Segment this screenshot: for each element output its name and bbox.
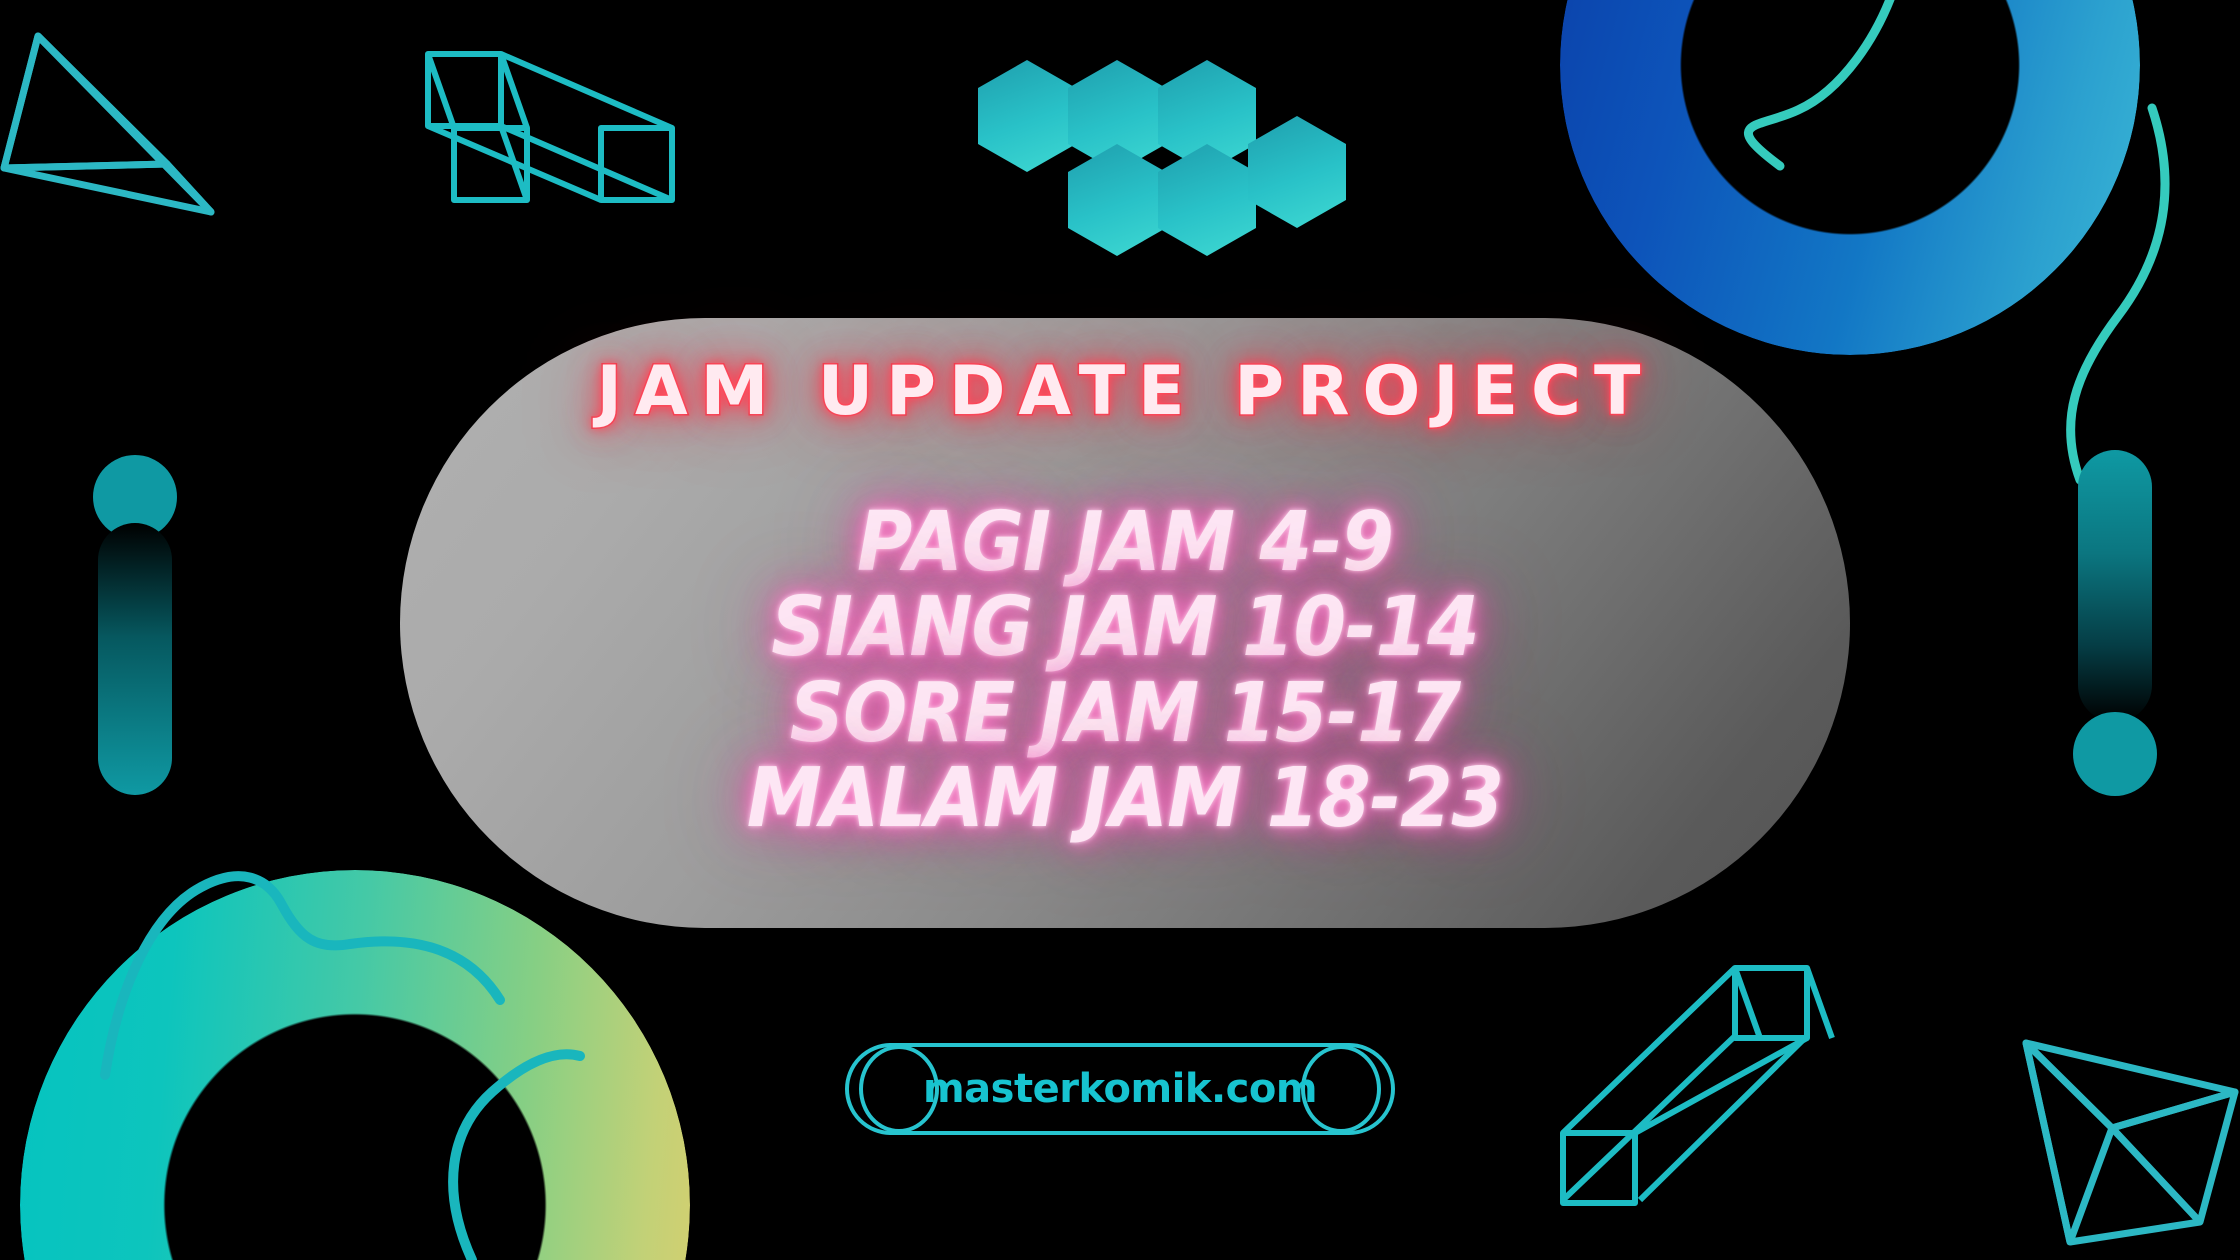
beam-wireframe-bottom-right (1563, 968, 1832, 1203)
page-title-text: JAM UPDATE PROJECT (597, 352, 1654, 431)
exclamation-left (90, 455, 180, 795)
schedule-item-sore: SORE JAM 15-17 (458, 671, 1792, 756)
tetrahedron-wireframe-top-left (4, 36, 211, 212)
curved-line-bottom-left (105, 876, 580, 1260)
page-title: JAM UPDATE PROJECT (400, 352, 1850, 431)
website-url-text: masterkomik.com (845, 1043, 1395, 1135)
schedule-list: PAGI JAM 4-9 SIANG JAM 10-14 SORE JAM 15… (400, 500, 1850, 841)
exclamation-dot (2073, 712, 2157, 796)
tetrahedron-wireframe-bottom-right (2026, 1043, 2235, 1242)
website-badge[interactable]: masterkomik.com (845, 1043, 1395, 1135)
beam-wireframe-top-left (428, 54, 672, 200)
schedule-item-malam: MALAM JAM 18-23 (458, 756, 1792, 841)
exclamation-bar (2078, 450, 2152, 722)
exclamation-bar (98, 523, 172, 795)
schedule-item-pagi: PAGI JAM 4-9 (458, 500, 1792, 585)
exclamation-right (2070, 450, 2160, 800)
poster-canvas: JAM UPDATE PROJECT PAGI JAM 4-9 SIANG JA… (0, 0, 2240, 1260)
schedule-item-siang: SIANG JAM 10-14 (458, 585, 1792, 670)
